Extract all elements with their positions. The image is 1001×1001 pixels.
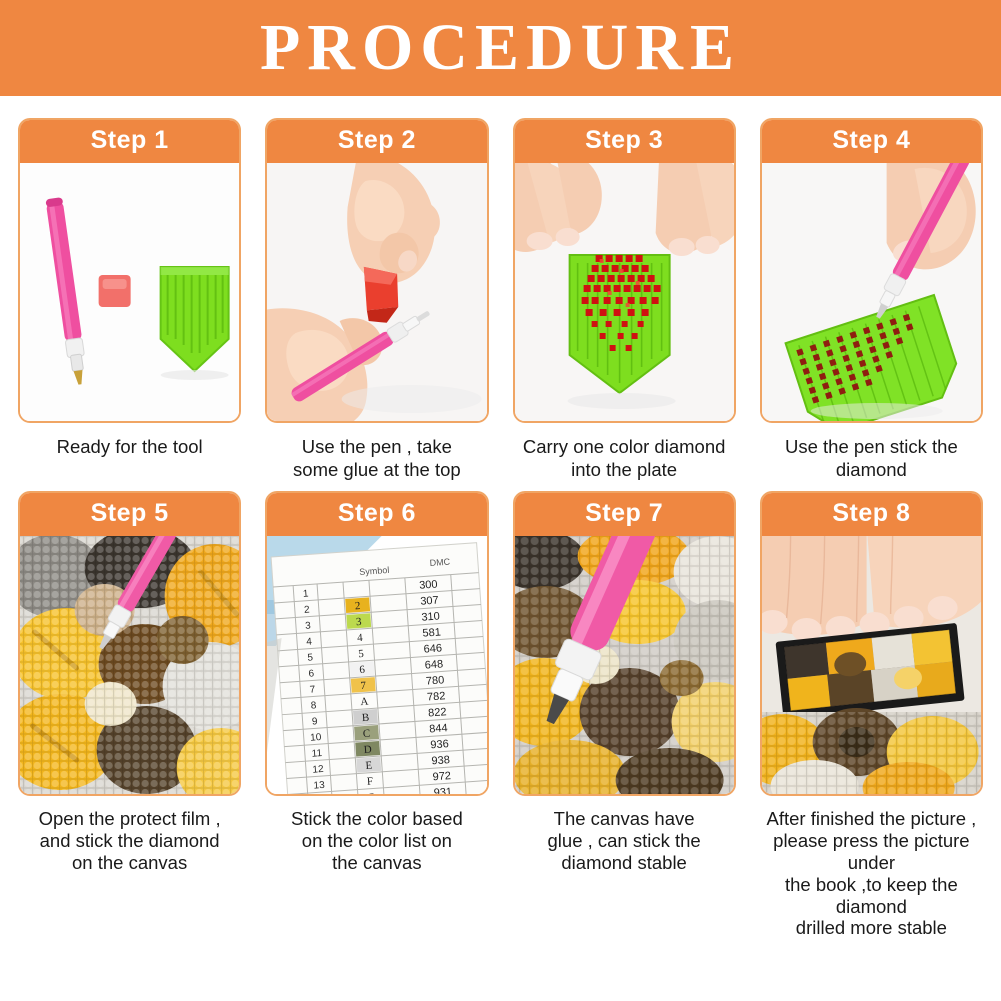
step-cell-7: Step 7 [513,491,736,939]
step-caption-8: After finished the picture , please pres… [760,808,983,939]
svg-text:Symbol: Symbol [359,565,390,577]
svg-text:13: 13 [313,780,325,792]
svg-text:938: 938 [431,754,450,767]
step-title-8: Step 8 [762,493,981,536]
step-title-4: Step 4 [762,120,981,163]
step-caption-3: Carry one color diamond into the plate [521,435,728,481]
step-image-3 [515,163,734,421]
page-title: PROCEDURE [260,15,741,81]
step-card-4: Step 4 [760,118,983,423]
svg-text:581: 581 [422,627,441,640]
step-card-8: Step 8 [760,491,983,796]
step-image-6: Symbol DMC [267,536,486,794]
svg-text:F: F [367,776,374,788]
svg-text:310: 310 [421,611,440,624]
step-caption-4: Use the pen stick the diamond [783,435,960,481]
hands-pouring-red-diamonds-into-green-tray-image [515,163,734,421]
step-caption-2: Use the pen , take some glue at the top [291,435,463,481]
step-card-1: Step 1 [18,118,241,423]
step-title-6: Step 6 [267,493,486,536]
svg-text:648: 648 [425,659,444,672]
svg-text:G: G [367,792,376,795]
svg-text:C: C [363,728,371,740]
step-title-2: Step 2 [267,120,486,163]
svg-text:972: 972 [432,770,451,783]
step-cell-2: Step 2 [265,118,488,481]
step-cell-1: Step 1 [18,118,241,481]
step-caption-5: Open the protect film , and stick the di… [37,808,223,873]
step-caption-6: Stick the color based on the color list … [289,808,465,873]
step-cell-4: Step 4 [760,118,983,481]
pink-pen-glue-square-green-tray-image [20,163,239,421]
svg-text:300: 300 [419,579,438,592]
step-title-5: Step 5 [20,493,239,536]
svg-text:307: 307 [420,595,439,608]
svg-text:11: 11 [312,748,324,760]
svg-text:936: 936 [430,738,449,751]
step-card-3: Step 3 [513,118,736,423]
pen-over-sunflower-diamond-canvas-image [20,536,239,794]
step-card-5: Step 5 [18,491,241,796]
svg-text:780: 780 [426,675,445,688]
svg-text:931: 931 [434,786,453,794]
color-symbol-chart-list-image: Symbol DMC [267,536,486,794]
step-title-1: Step 1 [20,120,239,163]
pen-on-glued-diamond-canvas-image [515,536,734,794]
step-title-3: Step 3 [515,120,734,163]
svg-text:822: 822 [428,706,447,719]
svg-text:844: 844 [429,722,448,735]
pen-picking-diamond-from-tray-image [762,163,981,421]
page-banner: PROCEDURE [0,0,1001,96]
step-cell-5: Step 5 [18,491,241,939]
svg-text:E: E [365,760,373,772]
svg-text:12: 12 [312,764,324,776]
svg-text:2: 2 [355,600,361,612]
svg-text:DMC: DMC [430,557,452,568]
step-image-8 [762,536,981,794]
step-card-6: Step 6 Symbol DMC [265,491,488,796]
svg-text:10: 10 [310,732,322,744]
step-title-7: Step 7 [515,493,734,536]
step-cell-6: Step 6 Symbol DMC [265,491,488,939]
hands-dipping-pen-into-glue-image [267,163,486,421]
svg-text:782: 782 [427,691,446,704]
step-card-7: Step 7 [513,491,736,796]
step-image-2 [267,163,486,421]
svg-text:A: A [360,696,369,709]
step-image-4 [762,163,981,421]
steps-grid: Step 1 [0,96,1001,939]
step-caption-7: The canvas have glue , can stick the dia… [546,808,703,873]
svg-text:D: D [364,744,373,757]
step-caption-1: Ready for the tool [55,435,205,458]
step-image-7 [515,536,734,794]
step-cell-8: Step 8 [760,491,983,939]
step-cell-3: Step 3 [513,118,736,481]
svg-text:646: 646 [424,643,443,656]
hands-pressing-book-over-finished-canvas-image [762,536,981,794]
step-image-5 [20,536,239,794]
step-card-2: Step 2 [265,118,488,423]
step-image-1 [20,163,239,421]
svg-text:B: B [362,712,370,724]
